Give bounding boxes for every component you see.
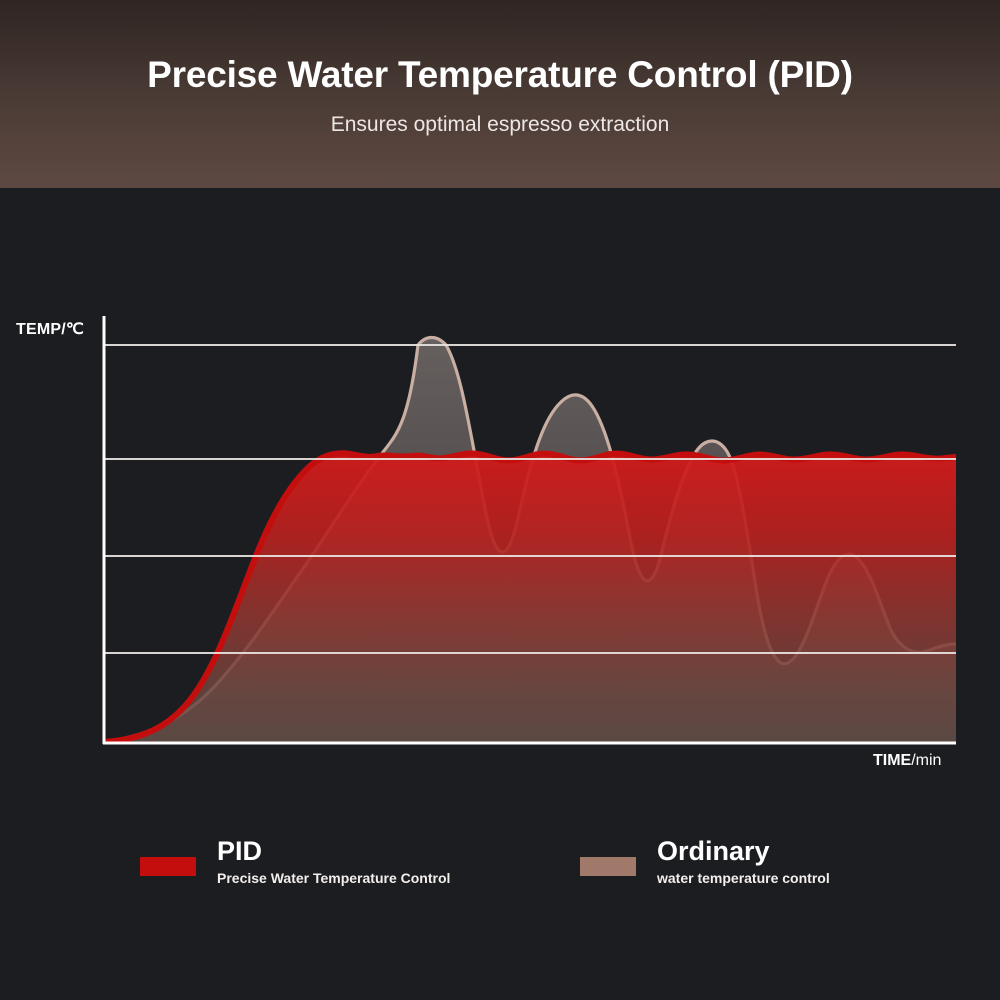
x-axis-label: TIME/min bbox=[873, 752, 941, 770]
page-title: Precise Water Temperature Control (PID) bbox=[0, 52, 1000, 98]
chart-panel: TEMP/℃ TIME/min PID Precise Water Temper… bbox=[0, 188, 1000, 1000]
legend-title-pid: PID bbox=[217, 836, 450, 867]
page-subtitle: Ensures optimal espresso extraction bbox=[0, 110, 1000, 140]
legend-text-ordinary: Ordinary water temperature control bbox=[657, 836, 830, 887]
legend-swatch-ordinary bbox=[580, 857, 636, 876]
legend-item-ordinary[interactable]: Ordinary water temperature control bbox=[580, 836, 830, 887]
series-pid bbox=[103, 453, 956, 744]
legend-subtitle-ordinary: water temperature control bbox=[657, 869, 830, 887]
legend-title-ordinary: Ordinary bbox=[657, 836, 830, 867]
legend-swatch-pid bbox=[140, 857, 196, 876]
chart-legend: PID Precise Water Temperature Control Or… bbox=[0, 836, 1000, 946]
y-axis-label: TEMP/℃ bbox=[16, 319, 84, 339]
legend-subtitle-pid: Precise Water Temperature Control bbox=[217, 869, 450, 887]
legend-text-pid: PID Precise Water Temperature Control bbox=[217, 836, 450, 887]
header-banner: Precise Water Temperature Control (PID) … bbox=[0, 0, 1000, 188]
x-axis-label-rest: /min bbox=[911, 752, 941, 769]
temperature-chart bbox=[0, 188, 1000, 848]
legend-item-pid[interactable]: PID Precise Water Temperature Control bbox=[140, 836, 450, 887]
pid-area bbox=[103, 453, 956, 744]
infographic-page: Precise Water Temperature Control (PID) … bbox=[0, 0, 1000, 1000]
x-axis-label-strong: TIME bbox=[873, 752, 911, 769]
